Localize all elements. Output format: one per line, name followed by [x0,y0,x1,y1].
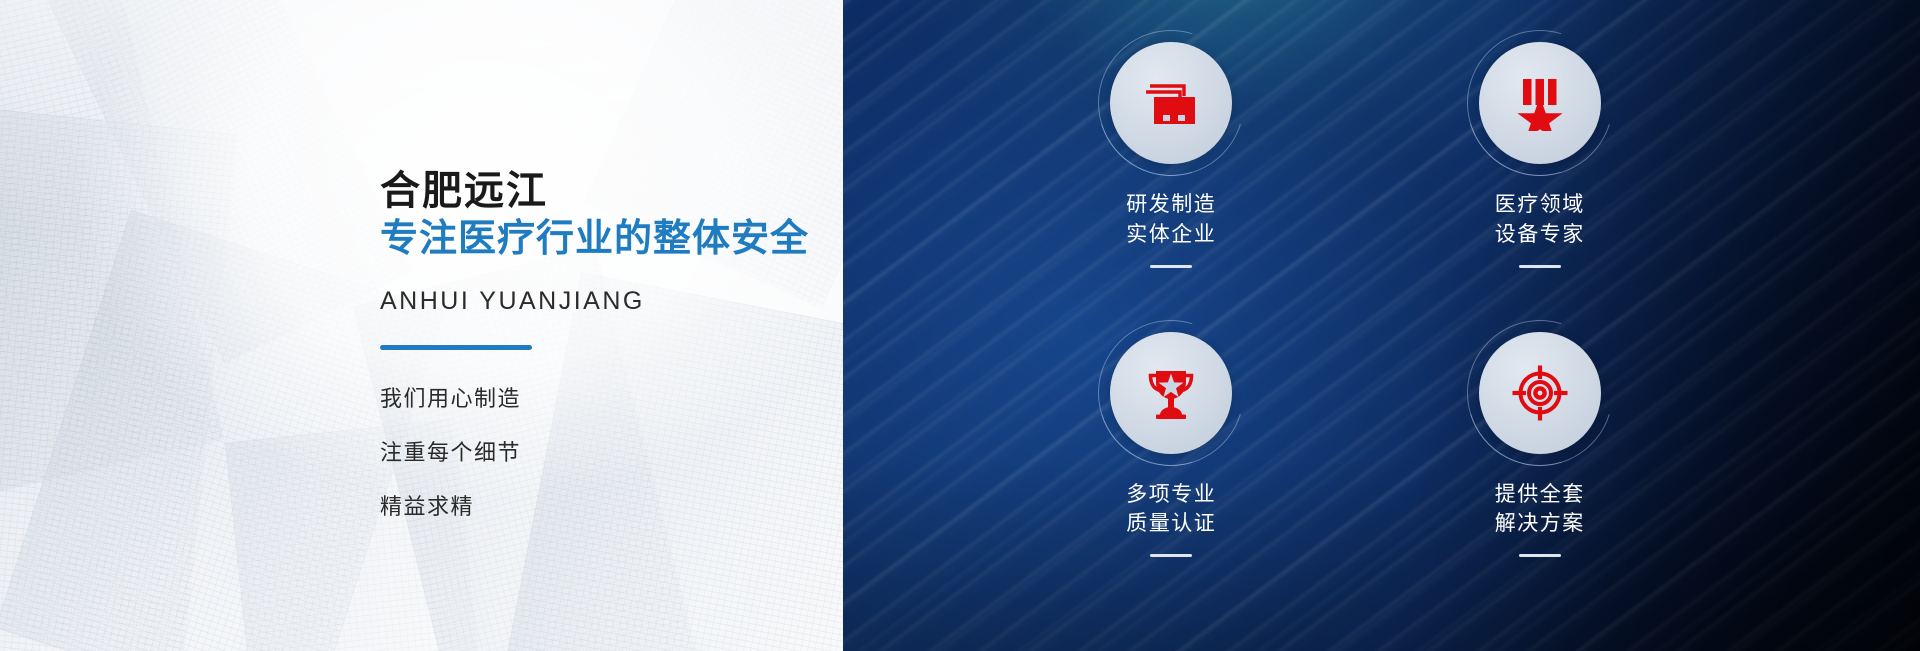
right-panel: 研发制造 实体企业 [843,0,1920,651]
feature-label-line2: 质量认证 [1126,509,1216,539]
feature-item-medical-expert[interactable]: 医疗领域 设备专家 [1356,42,1725,332]
badge-disc [1110,42,1232,164]
tagline-item: 精益求精 [380,496,810,518]
feature-underline [1519,265,1561,268]
feature-badge [1110,332,1232,454]
feature-label-line2: 设备专家 [1495,220,1585,250]
hero-text-block: 合肥远江 专注医疗行业的整体安全 ANHUI YUANJIANG 我们用心制造 … [380,168,810,518]
feature-badge [1479,42,1601,164]
feature-underline [1519,554,1561,557]
feature-label: 研发制造 实体企业 [1126,190,1216,250]
badge-disc [1479,42,1601,164]
feature-label-line1: 提供全套 [1495,480,1585,510]
feature-underline [1150,554,1192,557]
trophy-icon [1143,365,1199,421]
feature-item-research-manufacturing[interactable]: 研发制造 实体企业 [987,42,1356,332]
banner-root: 合肥远江 专注医疗行业的整体安全 ANHUI YUANJIANG 我们用心制造 … [0,0,1920,651]
feature-grid: 研发制造 实体企业 [843,0,1920,651]
tagline-list: 我们用心制造 注重每个细节 精益求精 [380,388,810,518]
feature-underline [1150,265,1192,268]
company-name-pinyin: ANHUI YUANJIANG [380,287,810,316]
feature-label-line1: 多项专业 [1126,480,1216,510]
feature-label: 医疗领域 设备专家 [1495,190,1585,250]
badge-disc [1110,332,1232,454]
company-name-heading: 合肥远江 [380,168,810,215]
feature-label: 多项专业 质量认证 [1126,480,1216,540]
feature-badge [1479,332,1601,454]
tagline-item: 注重每个细节 [380,442,810,464]
feature-label-line1: 医疗领域 [1495,190,1585,220]
left-panel: 合肥远江 专注医疗行业的整体安全 ANHUI YUANJIANG 我们用心制造 … [0,0,843,651]
feature-item-quality-certification[interactable]: 多项专业 质量认证 [987,332,1356,622]
feature-badge [1110,42,1232,164]
tagline-item: 我们用心制造 [380,388,810,410]
feature-label-line1: 研发制造 [1126,190,1216,220]
feature-label-line2: 解决方案 [1495,509,1585,539]
factory-icon [1142,77,1200,129]
feature-item-full-solution[interactable]: 提供全套 解决方案 [1356,332,1725,622]
feature-label: 提供全套 解决方案 [1495,480,1585,540]
company-slogan-heading: 专注医疗行业的整体安全 [380,215,810,264]
feature-label-line2: 实体企业 [1126,220,1216,250]
target-crosshair-icon [1511,364,1569,422]
medal-star-icon [1514,75,1566,131]
accent-divider [380,345,532,350]
badge-disc [1479,332,1601,454]
